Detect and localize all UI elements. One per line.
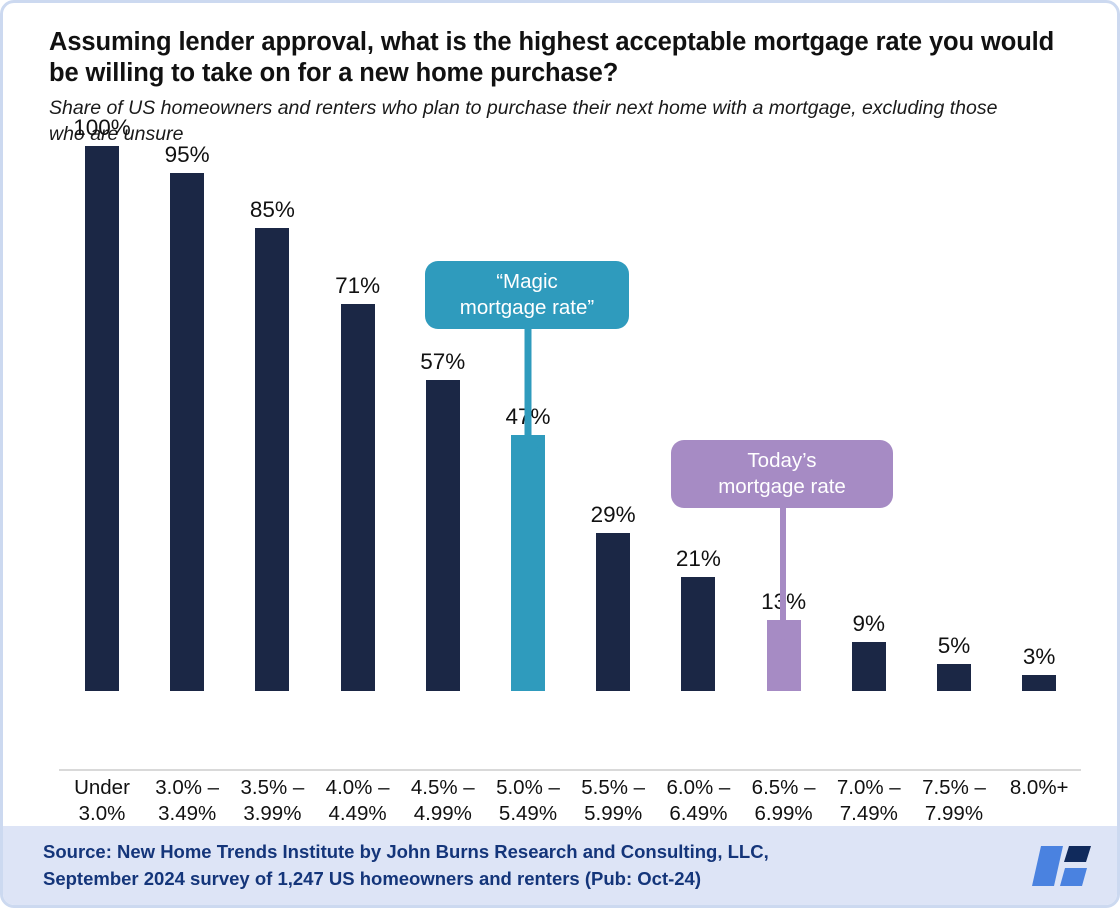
source-citation: Source: New Home Trends Institute by Joh…	[43, 839, 769, 892]
bar-value-label: 9%	[826, 611, 912, 642]
callout-todays-mortgage-rate[interactable]: Today’s mortgage rate	[671, 440, 893, 508]
bar-group: 5%	[911, 664, 997, 691]
bar-value-label: 71%	[315, 273, 401, 304]
bar-value-label: 29%	[570, 502, 656, 533]
bar[interactable]	[681, 577, 715, 691]
bar-group: 29%	[570, 533, 656, 691]
bar-group: 9%	[826, 642, 912, 691]
x-axis-tick-label: 3.5% – 3.99%	[229, 775, 315, 827]
bar-value-label: 100%	[59, 115, 145, 146]
chart-plot-area: 100%95%85%71%57%47%29%21%13%9%5%3% Under…	[3, 3, 1120, 833]
x-axis-tick-label: 5.0% – 5.49%	[485, 775, 571, 827]
bar[interactable]	[255, 228, 289, 691]
bar-group: 57%	[400, 380, 486, 691]
bar-value-label: 85%	[229, 197, 315, 228]
bar-group: 95%	[144, 173, 230, 691]
bar-value-label: 57%	[400, 349, 486, 380]
bar-group: 85%	[229, 228, 315, 691]
arrow-down-icon-today	[771, 508, 795, 646]
x-axis-tick-label: 8.0%+	[996, 775, 1082, 801]
callout-today-label: Today’s mortgage rate	[718, 448, 846, 500]
callout-magic-label: “Magic mortgage rate”	[460, 269, 594, 321]
bar[interactable]	[596, 533, 630, 691]
bar[interactable]	[85, 146, 119, 691]
bar-group: 3%	[996, 675, 1082, 691]
bar-value-label: 3%	[996, 644, 1082, 675]
chart-baseline	[59, 769, 1081, 771]
x-axis-tick-label: 7.5% – 7.99%	[911, 775, 997, 827]
bar[interactable]	[341, 304, 375, 691]
footer-bar: Source: New Home Trends Institute by Joh…	[3, 826, 1120, 905]
arrow-down-icon-magic	[515, 329, 541, 473]
x-axis-tick-label: 6.5% – 6.99%	[741, 775, 827, 827]
bar-group: 47%	[485, 435, 571, 691]
bar[interactable]	[937, 664, 971, 691]
callout-magic-mortgage-rate[interactable]: “Magic mortgage rate”	[425, 261, 629, 329]
x-axis-tick-label: 4.0% – 4.49%	[315, 775, 401, 827]
bar[interactable]	[170, 173, 204, 691]
bar-group: 100%	[59, 146, 145, 691]
bar-group: 21%	[655, 577, 741, 691]
bar-value-label: 5%	[911, 633, 997, 664]
x-axis-tick-label: 3.0% – 3.49%	[144, 775, 230, 827]
bar-value-label: 95%	[144, 142, 230, 173]
bar[interactable]	[1022, 675, 1056, 691]
chart-slide: Assuming lender approval, what is the hi…	[0, 0, 1120, 908]
bar[interactable]	[511, 435, 545, 691]
x-axis-tick-label: 6.0% – 6.49%	[655, 775, 741, 827]
john-burns-research-logo-icon	[1029, 840, 1095, 892]
bar-value-label: 21%	[655, 546, 741, 577]
bar-group: 71%	[315, 304, 401, 691]
x-axis-tick-label: Under 3.0%	[59, 775, 145, 827]
bar[interactable]	[852, 642, 886, 691]
x-axis-tick-label: 7.0% – 7.49%	[826, 775, 912, 827]
bar[interactable]	[426, 380, 460, 691]
x-axis-tick-label: 5.5% – 5.99%	[570, 775, 656, 827]
x-axis-tick-label: 4.5% – 4.99%	[400, 775, 486, 827]
